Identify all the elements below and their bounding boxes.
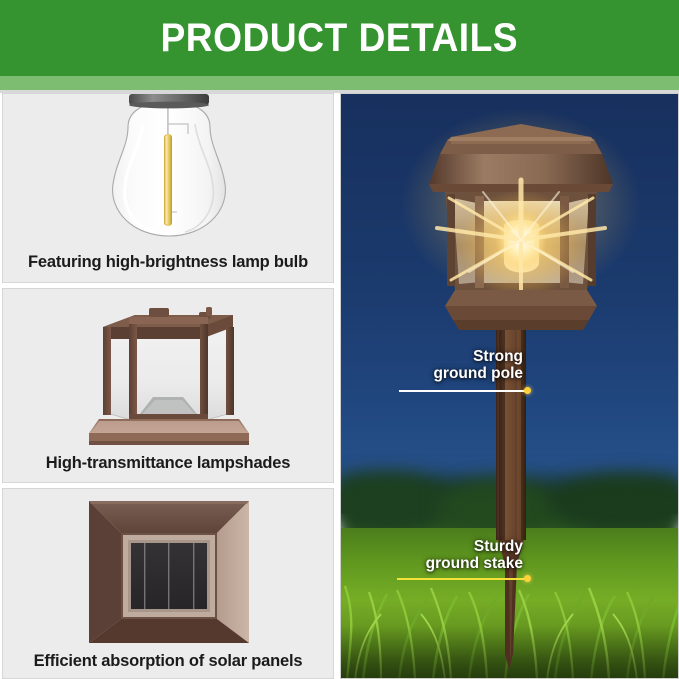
product-photo: Strong ground pole Sturdy ground stake <box>340 93 679 679</box>
callout-line1: Sturdy <box>474 538 523 555</box>
feature-panel-column: Featuring high-brightness lamp bulb <box>0 93 336 679</box>
feature-panel-lampshade: High-transmittance lampshades <box>2 288 334 483</box>
feature-panel-solar: Efficient absorption of solar panels <box>2 488 334 679</box>
product-details-infographic: PRODUCT DETAILS <box>0 0 679 679</box>
callout-ground-stake: Sturdy ground stake <box>397 538 523 573</box>
feature-caption-solar: Efficient absorption of solar panels <box>3 652 333 671</box>
header-accent-strip <box>0 76 679 90</box>
feature-caption-lamp-bulb: Featuring high-brightness lamp bulb <box>3 253 333 272</box>
page-title: PRODUCT DETAILS <box>161 18 519 58</box>
bulb-filament <box>164 134 172 226</box>
feature-panel-lamp-bulb: Featuring high-brightness lamp bulb <box>2 93 334 283</box>
solar-panel-illustration <box>3 491 334 643</box>
content-area: Featuring high-brightness lamp bulb <box>0 93 679 679</box>
lampshade-illustration <box>3 293 334 451</box>
callout-line1: Strong <box>473 348 523 365</box>
callout-dot-stake <box>524 575 531 582</box>
lamp-bulb-illustration <box>3 94 334 249</box>
solar-lantern-fixture <box>341 94 679 679</box>
callout-line2: ground pole <box>433 365 523 382</box>
callout-line2: ground stake <box>426 555 523 572</box>
header-banner: PRODUCT DETAILS <box>0 0 679 76</box>
callout-leader-line-stake <box>397 578 527 580</box>
callout-ground-pole: Strong ground pole <box>397 348 523 383</box>
callout-dot-pole <box>524 387 531 394</box>
callout-leader-line-pole <box>399 390 527 392</box>
feature-caption-lampshade: High-transmittance lampshades <box>3 454 333 473</box>
